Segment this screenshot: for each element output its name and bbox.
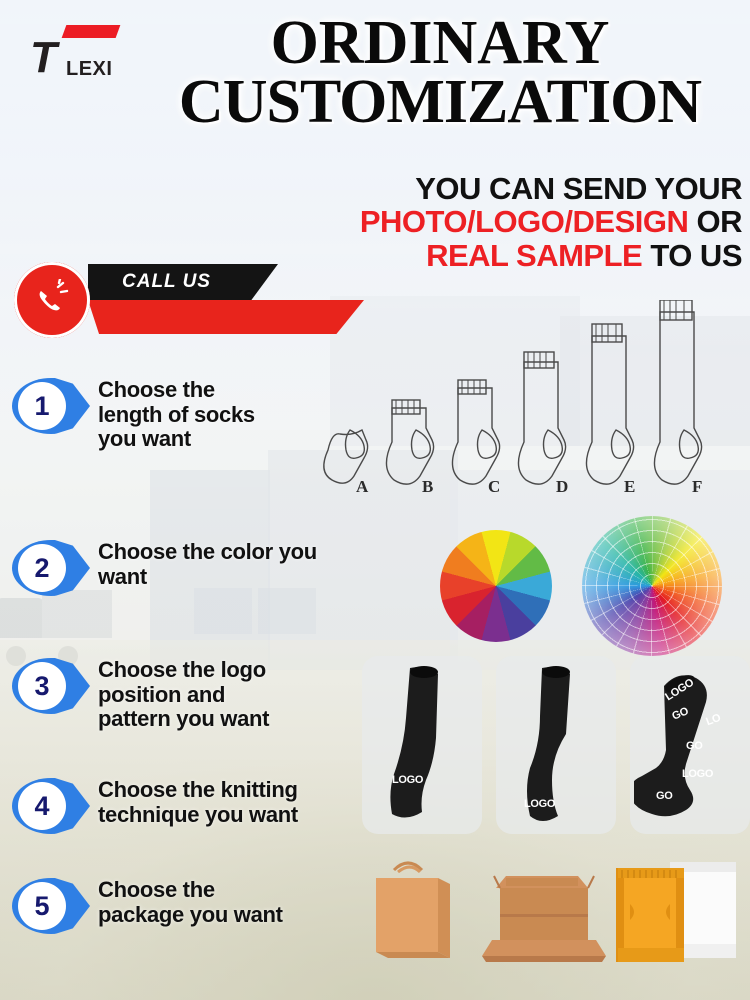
sock-length-label-f: F bbox=[692, 477, 702, 496]
logo-sock-cards: LOGO LOGO LOGO GO LO GO LOGO GO bbox=[362, 656, 750, 842]
logo-wordmark: LEXI bbox=[66, 58, 112, 81]
step-label-5: Choose thepackage you want bbox=[98, 878, 283, 927]
sock-length-label-b: B bbox=[422, 477, 433, 496]
phone-ringing-icon[interactable] bbox=[14, 262, 90, 338]
logo-stripe bbox=[62, 25, 121, 38]
package-paper-bag bbox=[376, 863, 450, 958]
step-badge-2: 2 bbox=[12, 540, 90, 596]
sock-card-logo-foot: LOGO bbox=[496, 656, 616, 834]
poster-canvas: T LEXI ORDINARY CUSTOMIZATION YOU CAN SE… bbox=[0, 0, 750, 1000]
color-wheel-gradient bbox=[582, 516, 722, 656]
package-mailer-box bbox=[482, 876, 606, 962]
step-number-4: 4 bbox=[18, 782, 66, 830]
call-us-black-bar: CALL US bbox=[88, 264, 278, 300]
step-item-2[interactable]: 2 Choose the color youwant bbox=[12, 540, 317, 596]
step-label-3: Choose the logoposition andpattern you w… bbox=[98, 658, 269, 732]
subheadline: YOU CAN SEND YOUR PHOTO/LOGO/DESIGN OR R… bbox=[222, 172, 742, 272]
sock-length-label-e: E bbox=[624, 477, 635, 496]
sock-card-logo-allover: LOGO GO LO GO LOGO GO bbox=[630, 656, 750, 834]
color-wheel-group bbox=[430, 512, 750, 654]
step-number-3: 3 bbox=[18, 662, 66, 710]
sock-logo-tag: LOGO bbox=[524, 798, 555, 810]
step-item-1[interactable]: 1 Choose thelength of socksyou want bbox=[12, 378, 255, 452]
step-item-4[interactable]: 4 Choose the knittingtechnique you want bbox=[12, 778, 298, 834]
subheadline-line-2: PHOTO/LOGO/DESIGN OR bbox=[222, 205, 742, 238]
call-us-label: CALL US bbox=[122, 271, 211, 293]
subheadline-or: OR bbox=[697, 204, 743, 239]
step-number-5: 5 bbox=[18, 882, 66, 930]
sock-length-label-a: A bbox=[356, 477, 369, 496]
step-item-3[interactable]: 3 Choose the logoposition andpattern you… bbox=[12, 658, 269, 732]
step-label-1: Choose thelength of socksyou want bbox=[98, 378, 255, 452]
step-item-5[interactable]: 5 Choose thepackage you want bbox=[12, 878, 283, 934]
step-badge-4: 4 bbox=[12, 778, 90, 834]
step-label-2: Choose the color youwant bbox=[98, 540, 317, 589]
color-wheel-12-segment bbox=[440, 530, 552, 642]
sock-logo-tag: LOGO bbox=[392, 774, 423, 786]
subheadline-line-1: YOU CAN SEND YOUR bbox=[222, 172, 742, 205]
step-number-1: 1 bbox=[18, 382, 66, 430]
package-options bbox=[366, 848, 750, 998]
sock-length-label-d: D bbox=[556, 477, 568, 496]
page-title: ORDINARY CUSTOMIZATION bbox=[140, 14, 740, 132]
sock-logo-tag: GO bbox=[656, 790, 673, 802]
sock-length-chart: A B C D E F bbox=[310, 300, 750, 505]
subheadline-highlight-photo: PHOTO/LOGO/DESIGN bbox=[360, 204, 689, 239]
package-stand-up-pouch bbox=[616, 862, 736, 962]
step-label-4: Choose the knittingtechnique you want bbox=[98, 778, 298, 827]
sock-logo-tag: GO bbox=[686, 740, 703, 752]
logo-t-mark: T bbox=[30, 36, 55, 80]
step-badge-3: 3 bbox=[12, 658, 90, 714]
step-badge-1: 1 bbox=[12, 378, 90, 434]
sock-card-logo-ankle: LOGO bbox=[362, 656, 482, 834]
title-line-1: ORDINARY bbox=[271, 9, 610, 77]
subheadline-highlight-sample: REAL SAMPLE bbox=[426, 238, 642, 273]
step-number-2: 2 bbox=[18, 544, 66, 592]
subheadline-to-us: TO US bbox=[650, 238, 742, 273]
brand-logo: T LEXI bbox=[20, 22, 138, 84]
sock-length-label-c: C bbox=[488, 477, 500, 496]
title-line-2: CUSTOMIZATION bbox=[140, 73, 740, 132]
sock-logo-tag: LOGO bbox=[682, 768, 713, 780]
step-badge-5: 5 bbox=[12, 878, 90, 934]
